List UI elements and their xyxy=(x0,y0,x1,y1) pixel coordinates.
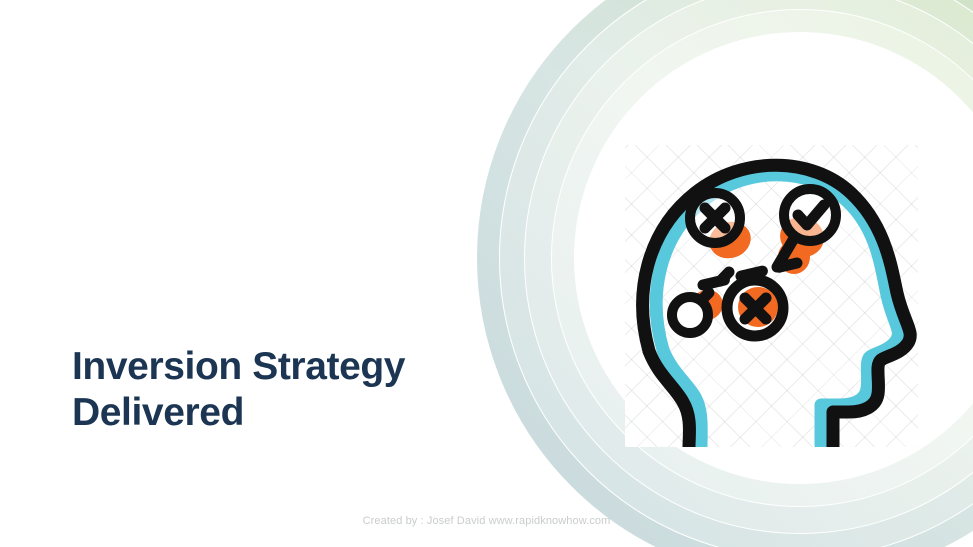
illustration-panel xyxy=(625,145,918,447)
title-label: Inversion Strategy Delivered xyxy=(72,344,492,435)
page-title: Inversion Strategy Delivered xyxy=(72,344,492,435)
slide-canvas: Inversion Strategy Delivered Created by … xyxy=(0,0,973,547)
node-top-left xyxy=(690,193,740,243)
node-bottom-center xyxy=(727,280,783,336)
node-bottom-left xyxy=(672,297,708,333)
footer: Created by : Josef David www.rapidknowho… xyxy=(0,511,973,529)
head-strategy-illustration xyxy=(625,145,918,447)
credit-label: Created by : Josef David www.rapidknowho… xyxy=(363,515,611,527)
